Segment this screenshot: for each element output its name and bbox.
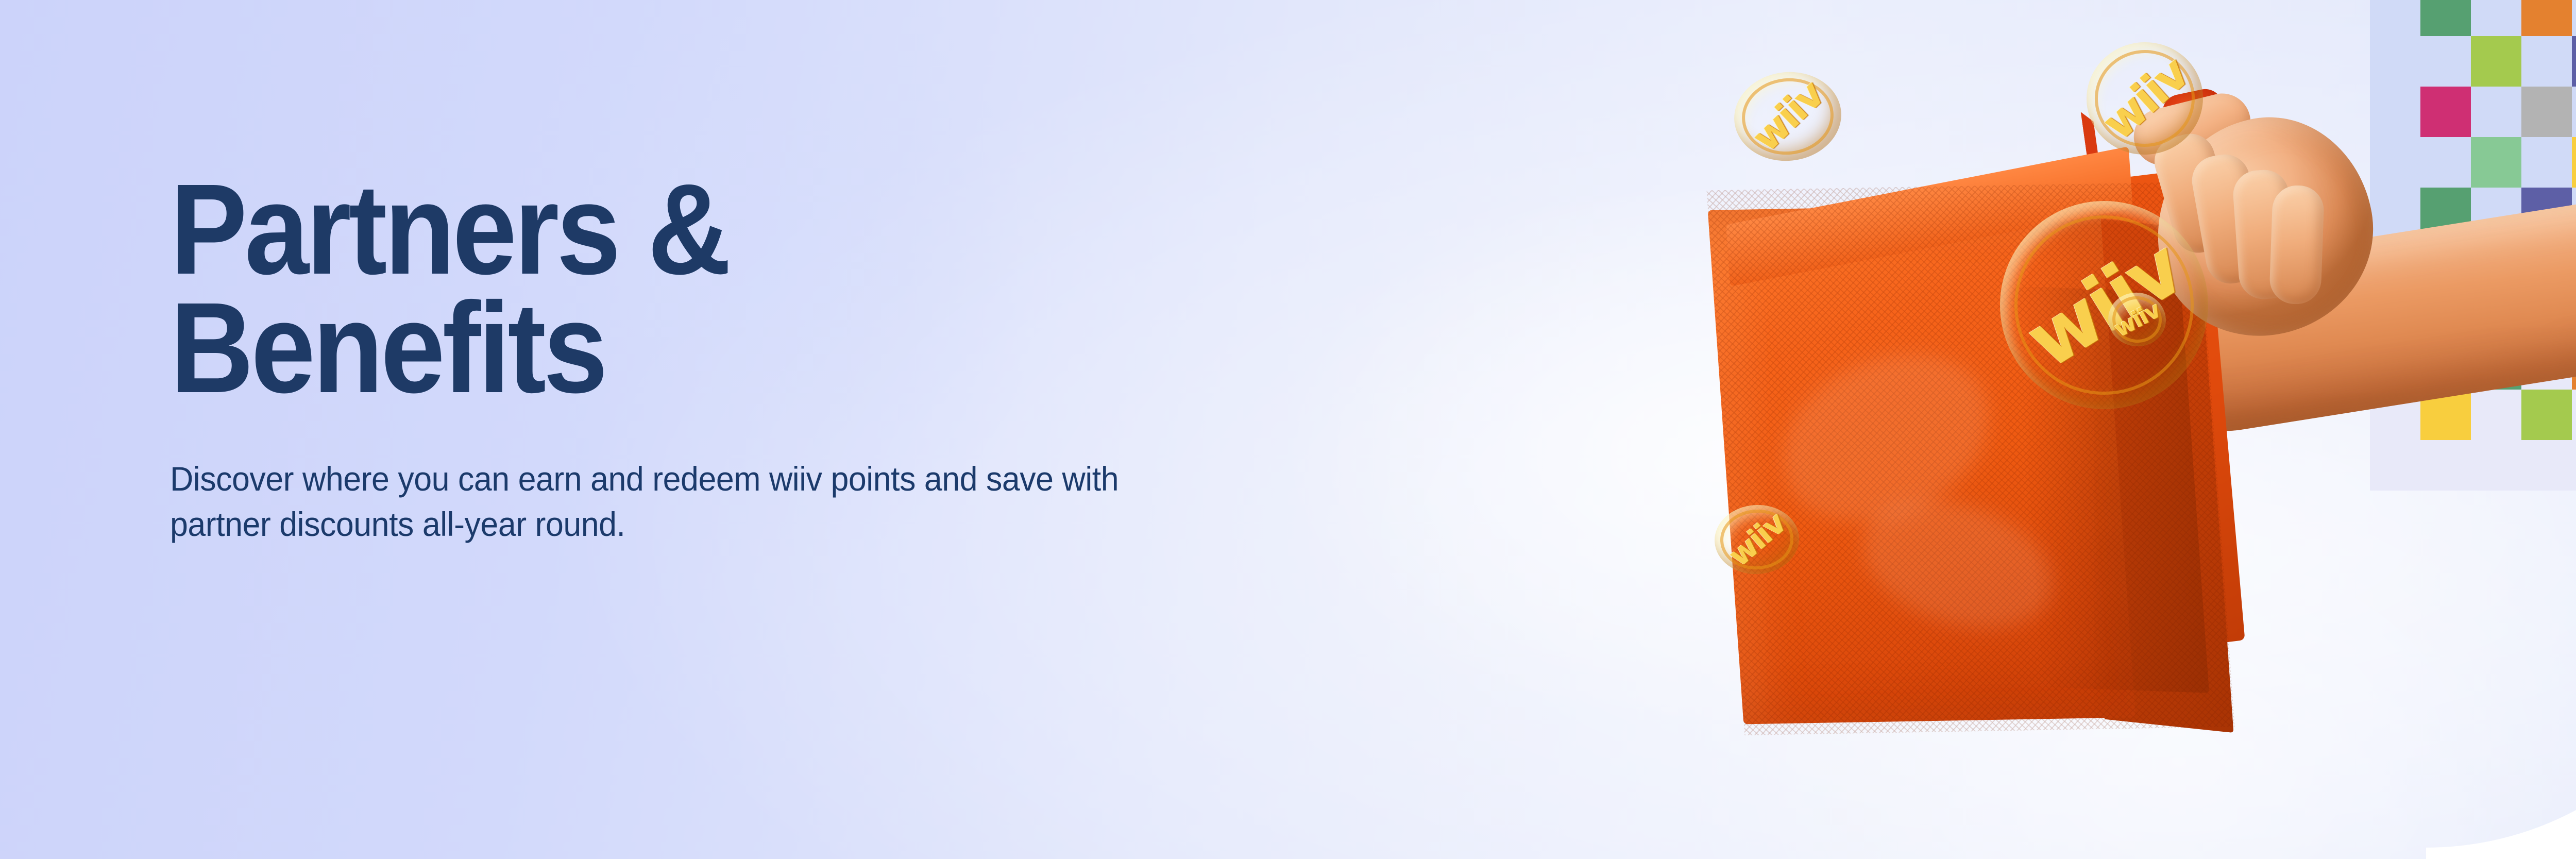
wiiv-coin-top-left: wiiv xyxy=(1730,67,1846,166)
wiiv-coin-large: wiiv xyxy=(1990,191,2218,419)
wiiv-coin-small-center: wiiv xyxy=(2104,288,2170,351)
wiiv-logo-icon: wiiv xyxy=(1718,47,1857,186)
partners-benefits-hero-banner: wiiv wiiv wiiv wiiv wiiv Par xyxy=(0,0,2576,859)
hero-artwork: wiiv wiiv wiiv wiiv wiiv xyxy=(1571,0,2576,859)
finger-pinky xyxy=(2269,184,2325,305)
hero-subtitle: Discover where you can earn and redeem w… xyxy=(170,457,1174,547)
wiiv-coin-lower-left: wiiv xyxy=(1713,503,1801,576)
wiiv-coin-top-right: wiiv xyxy=(2083,38,2207,158)
page-title: Partners & Benefits xyxy=(170,170,1236,407)
hero-copy-block: Partners & Benefits Discover where you c… xyxy=(170,170,1355,547)
